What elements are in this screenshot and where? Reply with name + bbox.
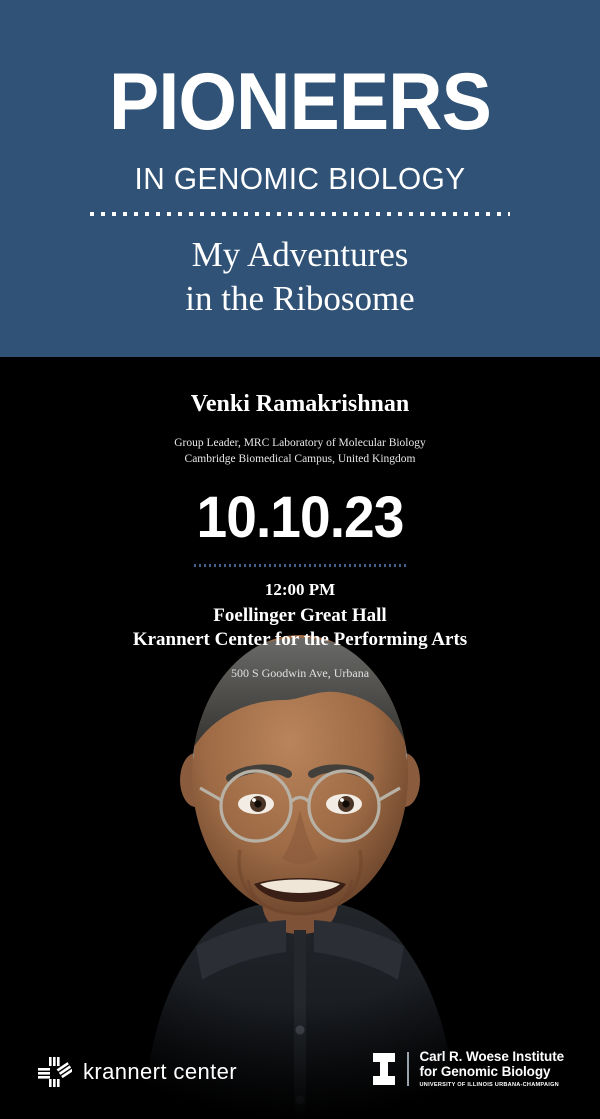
event-poster: PIONEERS IN GENOMIC BIOLOGY My Adventure…: [0, 0, 600, 1119]
series-title-primary: PIONEERS: [21, 62, 579, 143]
speaker-affiliation-line2: Cambridge Biomedical Campus, United King…: [0, 452, 600, 468]
talk-title-line1: My Adventures: [0, 233, 600, 277]
krannert-wordmark: krannert center: [83, 1061, 237, 1083]
igb-logo: Carl R. Woese Institute for Genomic Biol…: [371, 1049, 564, 1089]
event-date: 10.10.23: [15, 489, 585, 547]
logo-divider-rule: [407, 1052, 409, 1086]
igb-name-line1: Carl R. Woese Institute: [420, 1049, 564, 1065]
venue-hall: Foellinger Great Hall: [0, 604, 600, 628]
series-title-secondary: IN GENOMIC BIOLOGY: [12, 163, 588, 194]
talk-title: My Adventures in the Ribosome: [0, 233, 600, 321]
igb-university-line: UNIVERSITY OF ILLINOIS URBANA-CHAMPAIGN: [420, 1083, 564, 1089]
event-details: Venki Ramakrishnan Group Leader, MRC Lab…: [0, 357, 600, 679]
venue-center: Krannert Center for the Performing Arts: [0, 628, 600, 652]
speaker-affiliation-line1: Group Leader, MRC Laboratory of Molecula…: [0, 436, 600, 452]
igb-name-line2: for Genomic Biology: [420, 1064, 564, 1080]
venue-address: 500 S Goodwin Ave, Urbana: [0, 667, 600, 679]
event-time: 12:00 PM: [0, 581, 600, 598]
date-divider: [194, 564, 406, 567]
krannert-pinwheel-icon: [38, 1057, 72, 1087]
title-divider: [90, 212, 510, 216]
talk-title-line2: in the Ribosome: [0, 277, 600, 321]
krannert-center-logo: krannert center: [38, 1057, 237, 1087]
illinois-block-i-icon: [371, 1052, 397, 1086]
speaker-affiliation: Group Leader, MRC Laboratory of Molecula…: [0, 436, 600, 467]
speaker-name: Venki Ramakrishnan: [0, 392, 600, 416]
igb-lockup-text: Carl R. Woese Institute for Genomic Biol…: [420, 1049, 564, 1089]
poster-header: PIONEERS IN GENOMIC BIOLOGY My Adventure…: [0, 0, 600, 357]
